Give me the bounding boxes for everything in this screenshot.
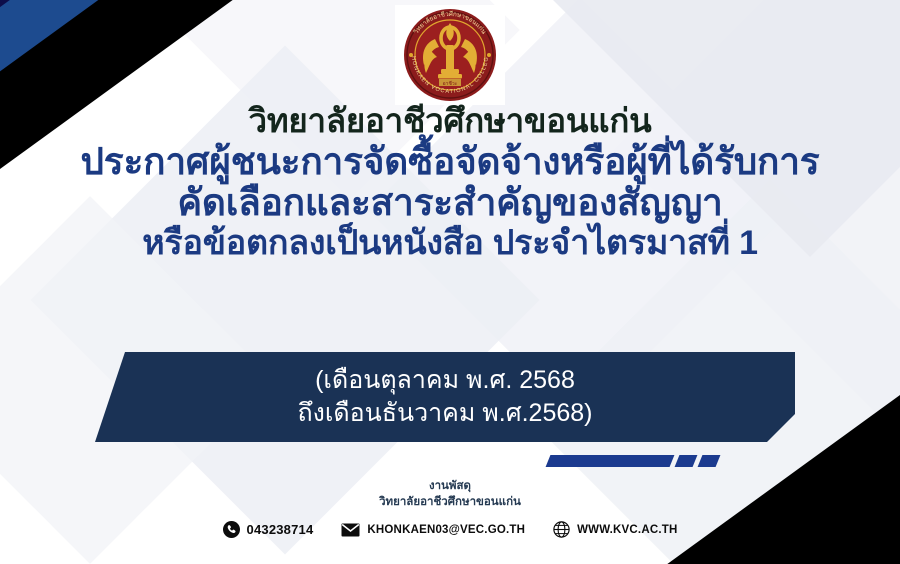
period-line-end: ถึงเดือนธันวาคม พ.ศ.2568)	[298, 397, 593, 430]
heading-line-institution: วิทยาลัยอาชีวศึกษาขอนแก่น	[0, 104, 900, 138]
email-address: KHONKAEN03@VEC.GO.TH	[367, 524, 525, 536]
decorative-dash	[675, 455, 698, 467]
decorative-dash	[698, 455, 721, 467]
contact-email[interactable]: KHONKAEN03@VEC.GO.TH	[341, 523, 525, 537]
period-line-start: (เดือนตุลาคม พ.ศ. 2568	[315, 364, 575, 397]
logo-container: วิทยาลัยอาชีวศึกษาขอนแก่น KHONKAEN VOCAT…	[0, 5, 900, 105]
footer-organisation: งานพัสดุ วิทยาลัยอาชีวศึกษาขอนแก่น	[0, 478, 900, 511]
contact-bar: 043238714 KHONKAEN03@VEC.GO.TH WWW.KVC.A…	[0, 521, 900, 538]
heading-line-announcement: ประกาศผู้ชนะการจัดซื้อจัดจ้างหรือผู้ที่ไ…	[0, 143, 900, 181]
svg-text:อาชีวะ: อาชีวะ	[443, 80, 458, 87]
contact-phone[interactable]: 043238714	[223, 521, 314, 538]
announcement-poster: วิทยาลัยอาชีวศึกษาขอนแก่น KHONKAEN VOCAT…	[0, 0, 900, 564]
globe-icon	[553, 521, 570, 538]
heading-line-selection: คัดเลือกและสาระสำคัญของสัญญา	[0, 184, 900, 222]
period-banner-text: (เดือนตุลาคม พ.ศ. 2568 ถึงเดือนธันวาคม พ…	[95, 352, 795, 442]
college-seal-icon: วิทยาลัยอาชีวศึกษาขอนแก่น KHONKAEN VOCAT…	[395, 5, 505, 105]
phone-icon	[223, 521, 240, 538]
footer-department: งานพัสดุ	[0, 478, 900, 494]
footer-institution: วิทยาลัยอาชีวศึกษาขอนแก่น	[0, 494, 900, 510]
contact-website[interactable]: WWW.KVC.AC.TH	[553, 521, 677, 538]
decorative-dashes	[548, 455, 718, 467]
decorative-dash	[546, 455, 675, 467]
heading-line-quarter: หรือข้อตกลงเป็นหนังสือ ประจำไตรมาสที่ 1	[0, 226, 900, 261]
website-url: WWW.KVC.AC.TH	[577, 524, 677, 536]
heading-block: วิทยาลัยอาชีวศึกษาขอนแก่น ประกาศผู้ชนะกา…	[0, 104, 900, 261]
phone-number: 043238714	[247, 522, 314, 537]
envelope-icon	[341, 523, 360, 537]
